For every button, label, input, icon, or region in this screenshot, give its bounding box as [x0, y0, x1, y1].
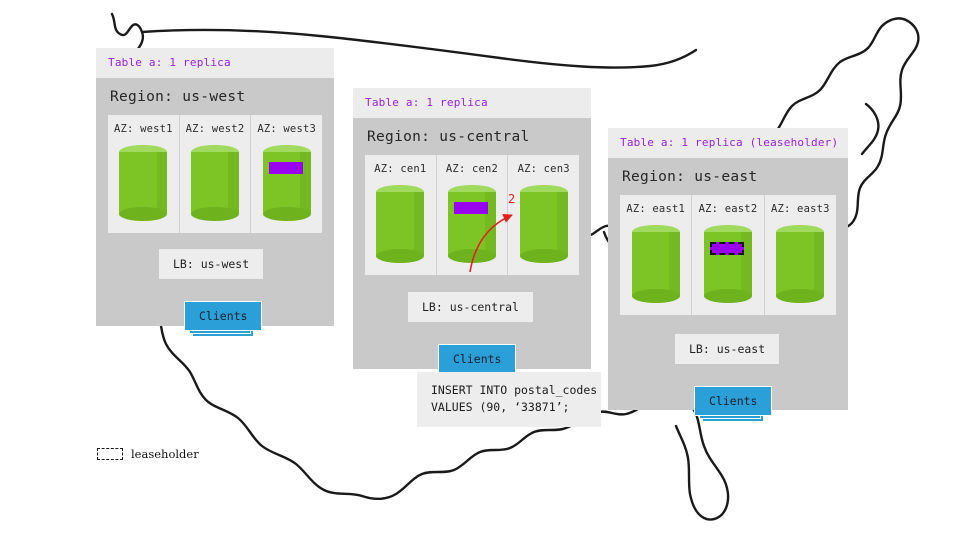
clients-stack-us-west[interactable]: Clients	[184, 301, 262, 331]
load-balancer-us-west[interactable]: LB: us-west	[159, 249, 263, 279]
az-cell-west2[interactable]: AZ: west2	[180, 115, 252, 233]
clients-label-us-central: Clients	[438, 344, 516, 374]
region-title-us-central: Region: us-central	[353, 118, 591, 155]
node-cylinder-east1[interactable]	[632, 225, 680, 303]
legend-label: leaseholder	[131, 447, 199, 461]
az-label-east1: AZ: east1	[620, 203, 691, 215]
az-label-west1: AZ: west1	[108, 123, 179, 135]
load-balancer-us-central[interactable]: LB: us-central	[408, 292, 533, 322]
az-cell-east2[interactable]: AZ: east2	[692, 195, 764, 315]
region-body-us-west: Region: us-west AZ: west1 AZ: west2 AZ: …	[96, 78, 334, 326]
clients-label-us-east: Clients	[694, 386, 772, 416]
replica-banner-us-west: Table a: 1 replica	[96, 48, 334, 78]
az-label-east3: AZ: east3	[765, 203, 836, 215]
range-replica-cen2	[454, 202, 488, 214]
az-cell-east3[interactable]: AZ: east3	[765, 195, 836, 315]
az-cell-cen3[interactable]: AZ: cen3	[508, 155, 579, 275]
region-panel-us-east: Table a: 1 replica (leaseholder) Region:…	[608, 128, 848, 410]
az-strip-us-east: AZ: east1 AZ: east2 AZ: east3	[620, 195, 836, 315]
region-title-us-east: Region: us-east	[608, 158, 848, 195]
node-cylinder-west1[interactable]	[119, 145, 167, 221]
replica-banner-us-central: Table a: 1 replica	[353, 88, 591, 118]
arrow-step-label-2: 2	[508, 192, 515, 206]
region-title-us-west: Region: us-west	[96, 78, 334, 115]
region-panel-us-west: Table a: 1 replica Region: us-west AZ: w…	[96, 48, 334, 326]
az-label-cen3: AZ: cen3	[508, 163, 579, 175]
clients-stack-us-east[interactable]: Clients	[694, 386, 772, 416]
load-balancer-us-east[interactable]: LB: us-east	[675, 334, 779, 364]
az-label-west3: AZ: west3	[251, 123, 322, 135]
node-cylinder-cen1[interactable]	[376, 185, 424, 263]
node-cylinder-cen3[interactable]	[520, 185, 568, 263]
region-body-us-east: Region: us-east AZ: east1 AZ: east2	[608, 158, 848, 410]
az-cell-cen1[interactable]: AZ: cen1	[365, 155, 437, 275]
replica-banner-us-east: Table a: 1 replica (leaseholder)	[608, 128, 848, 158]
az-strip-us-west: AZ: west1 AZ: west2 AZ: west3	[108, 115, 322, 233]
az-cell-cen2[interactable]: AZ: cen2	[437, 155, 509, 275]
range-replica-leaseholder-east2	[710, 242, 744, 255]
node-cylinder-west2[interactable]	[191, 145, 239, 221]
az-cell-west3[interactable]: AZ: west3	[251, 115, 322, 233]
az-label-cen1: AZ: cen1	[365, 163, 436, 175]
legend-leaseholder: leaseholder	[97, 447, 199, 461]
clients-stack-us-central[interactable]: Clients	[438, 344, 516, 374]
az-label-west2: AZ: west2	[180, 123, 251, 135]
diagram-canvas: Table a: 1 replica Region: us-west AZ: w…	[0, 0, 960, 540]
region-panel-us-central: Table a: 1 replica Region: us-central AZ…	[353, 88, 591, 369]
range-replica-west3	[269, 162, 303, 174]
node-cylinder-east3[interactable]	[776, 225, 824, 303]
az-cell-east1[interactable]: AZ: east1	[620, 195, 692, 315]
node-cylinder-west3[interactable]	[263, 145, 311, 221]
node-cylinder-east2[interactable]	[704, 225, 752, 303]
az-strip-us-central: AZ: cen1 AZ: cen2 AZ: cen3	[365, 155, 579, 275]
az-label-east2: AZ: east2	[692, 203, 763, 215]
clients-label-us-west: Clients	[184, 301, 262, 331]
az-cell-west1[interactable]: AZ: west1	[108, 115, 180, 233]
region-body-us-central: Region: us-central AZ: cen1 AZ: cen2	[353, 118, 591, 369]
az-label-cen2: AZ: cen2	[437, 163, 508, 175]
dashed-rect-icon	[97, 448, 123, 460]
node-cylinder-cen2[interactable]	[448, 185, 496, 263]
sql-statement-note: INSERT INTO postal_codes VALUES (90, ‘33…	[417, 372, 601, 427]
